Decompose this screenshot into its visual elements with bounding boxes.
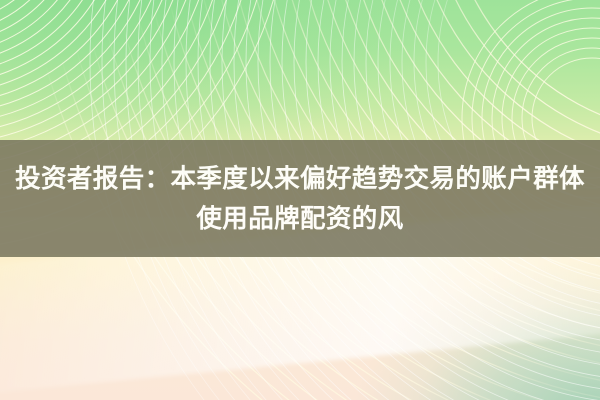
- caption-line-2: 使用品牌配资的风: [196, 199, 403, 239]
- banner-image: 投资者报告：本季度以来偏好趋势交易的账户群体 使用品牌配资的风: [0, 0, 600, 400]
- caption-line-1: 投资者报告：本季度以来偏好趋势交易的账户群体: [15, 159, 585, 199]
- caption-band: 投资者报告：本季度以来偏好趋势交易的账户群体 使用品牌配资的风: [0, 140, 600, 257]
